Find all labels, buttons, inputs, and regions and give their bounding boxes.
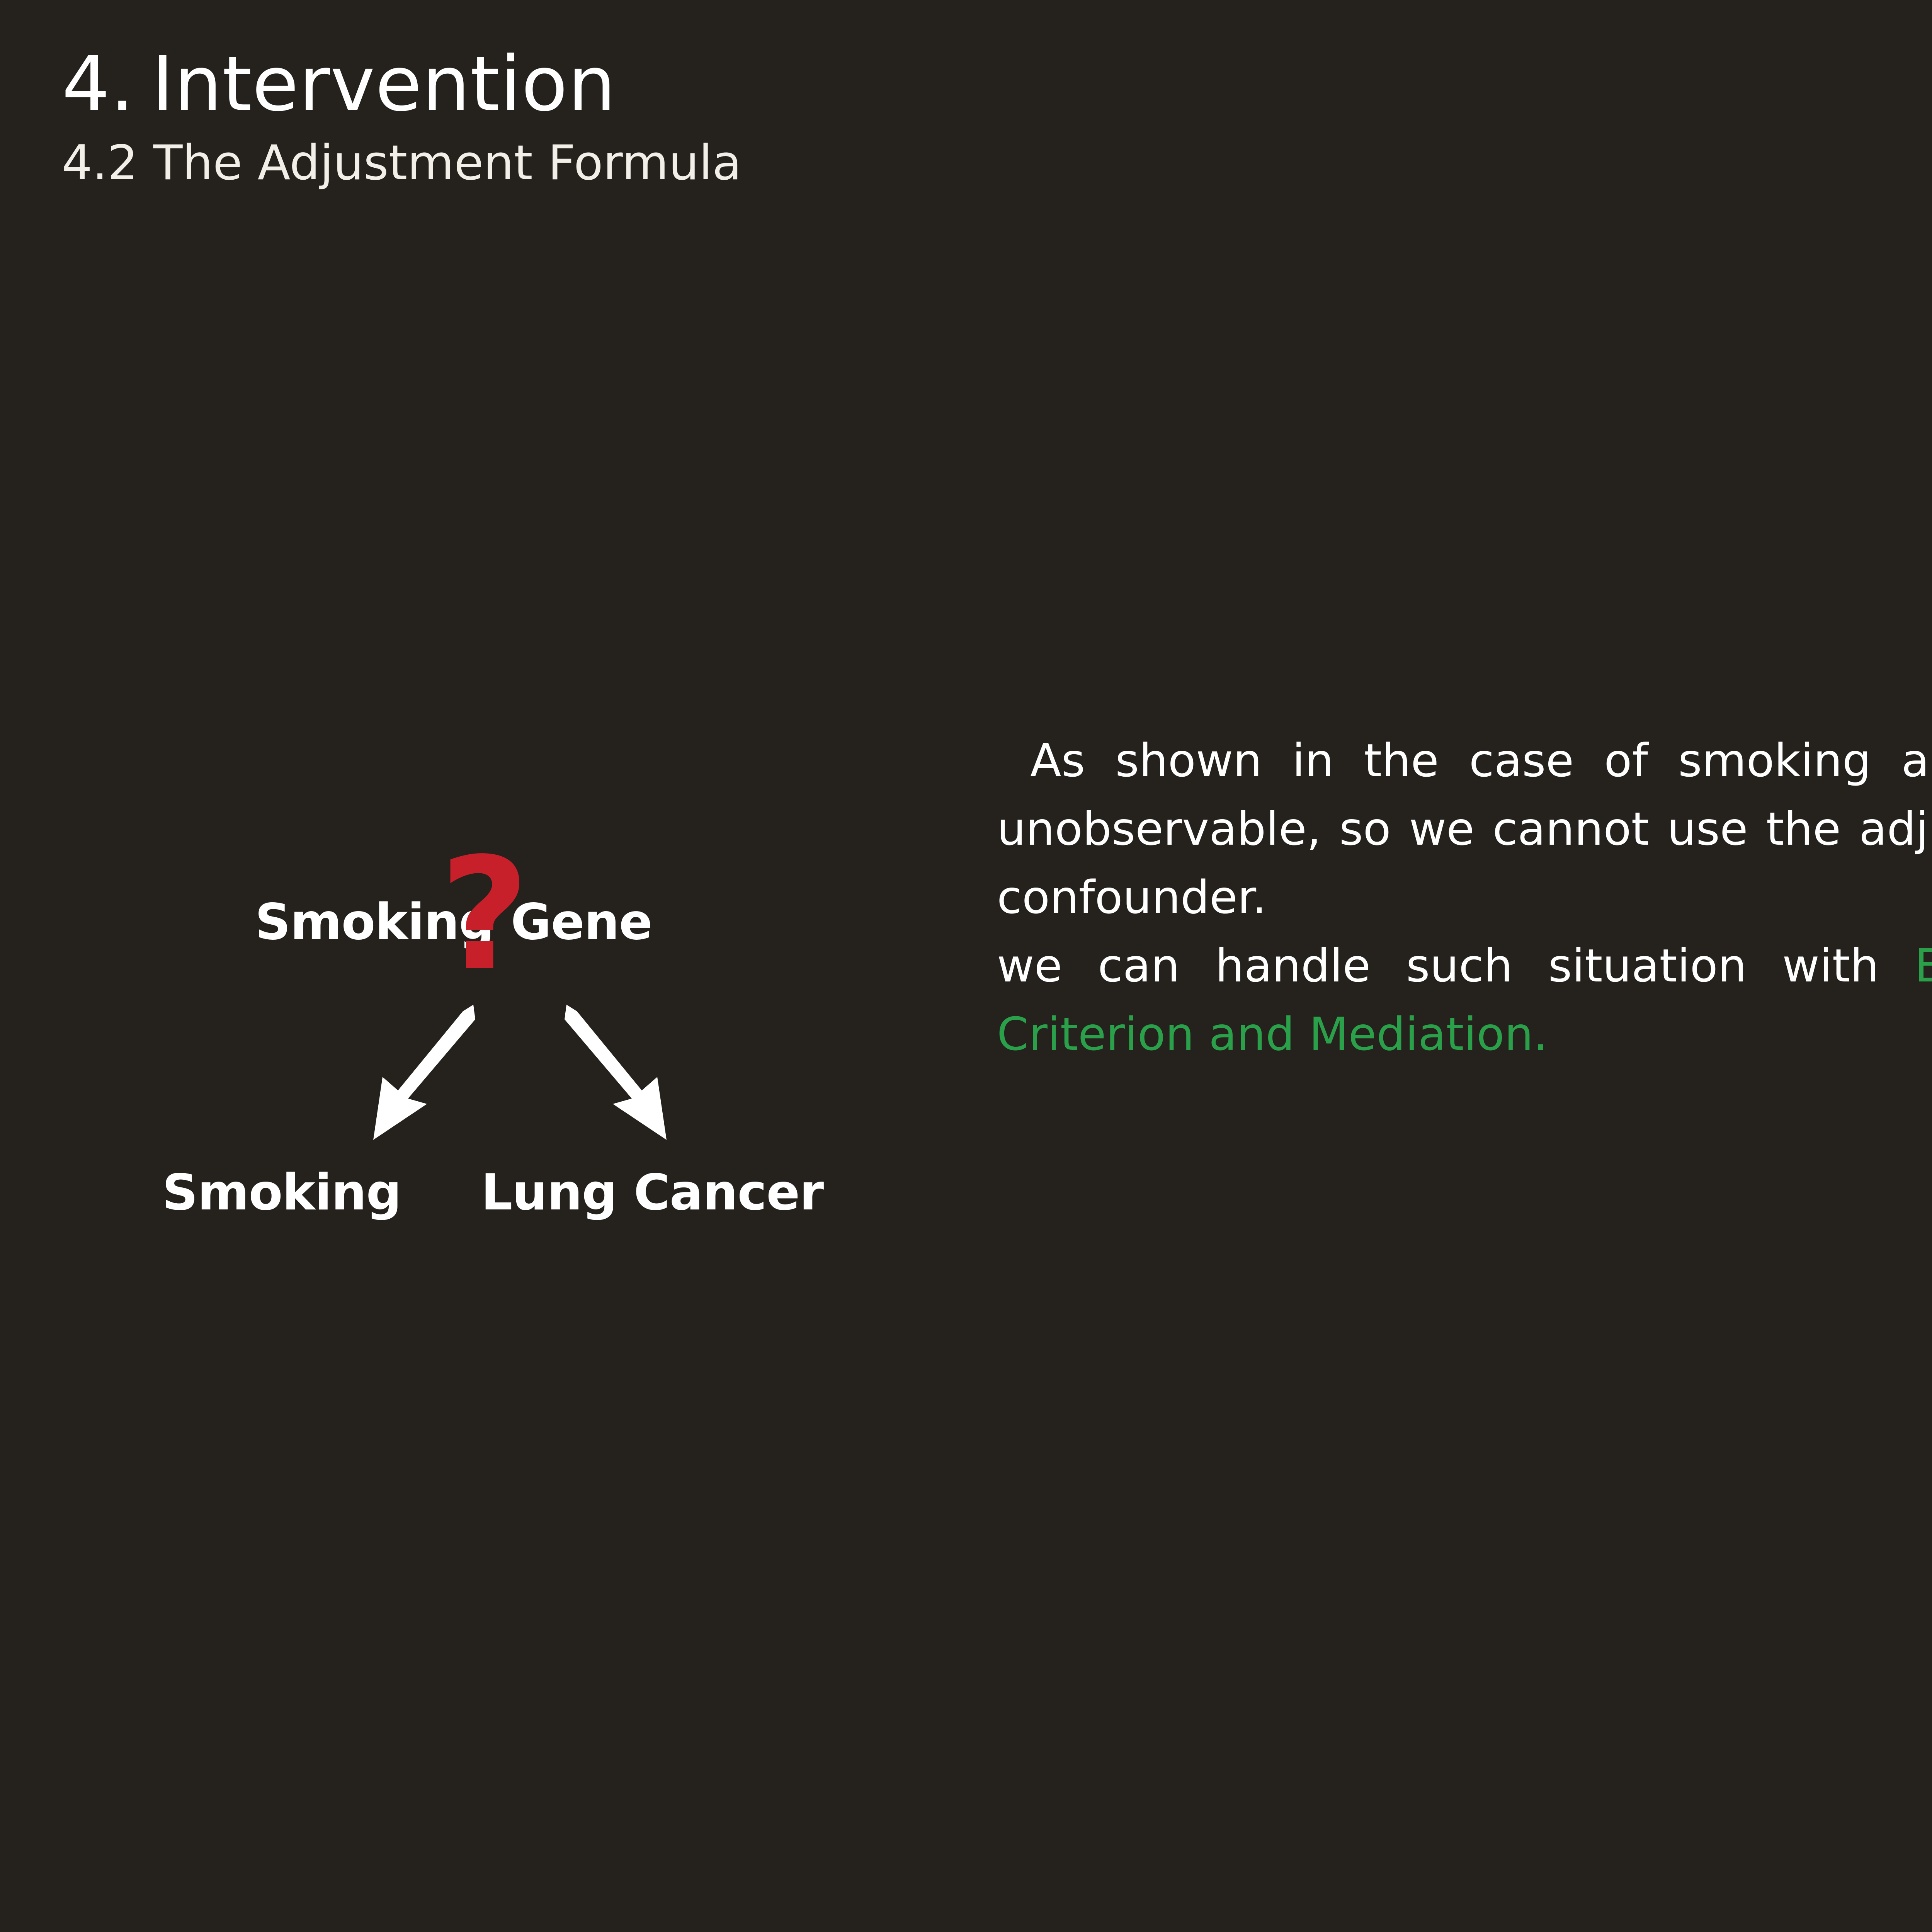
body-paragraph-1: As shown in the case of smoking and canc… [997, 726, 1932, 932]
unobserved-confounder-question-mark: ? [440, 825, 529, 1005]
title-number: 4. [62, 40, 134, 128]
slide-header: 4.Intervention 4.2 The Adjustment Formul… [62, 46, 1932, 187]
slide-canvas: 4.Intervention 4.2 The Adjustment Formul… [0, 0, 1932, 1932]
node-label-smoking: Smoking [162, 1164, 401, 1221]
title-text: Intervention [151, 40, 616, 128]
body-paragraph-2-plain: we can handle such situation with [997, 939, 1915, 992]
slide-body: As shown in the case of smoking and canc… [997, 726, 1932, 1068]
page-subtitle: 4.2 The Adjustment Formula [62, 139, 1932, 187]
page-title: 4.Intervention [62, 46, 1932, 122]
edge-gene-to-cancer [565, 1005, 667, 1140]
diagram-svg: Smoking Gene ? Smoking Lung Cancer [58, 823, 947, 1233]
smoking-gene-confounder-diagram: Smoking Gene ? Smoking Lung Cancer [58, 823, 947, 1233]
body-paragraph-2: we can handle such situation with Backdo… [997, 932, 1932, 1068]
node-label-lung-cancer: Lung Cancer [481, 1164, 824, 1221]
edge-gene-to-smoking [373, 1005, 475, 1140]
